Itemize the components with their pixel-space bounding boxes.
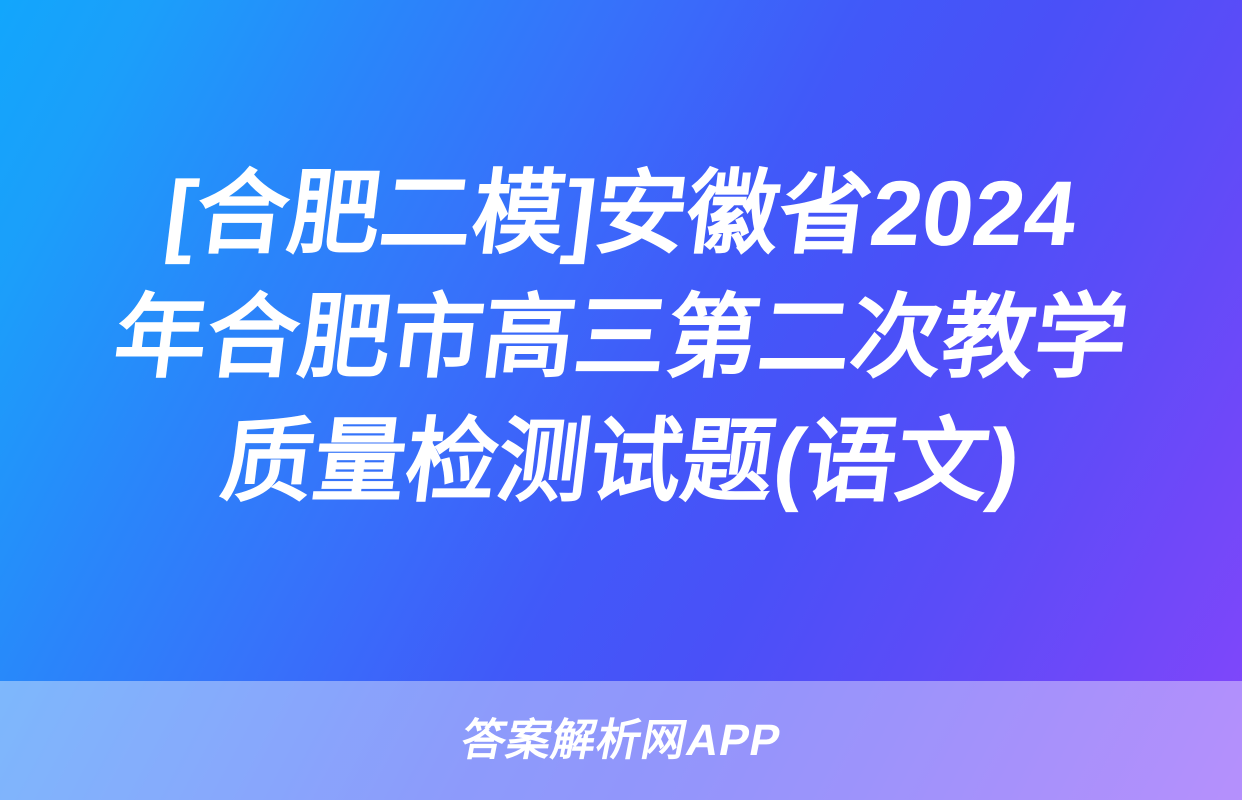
title-line-2: 年合肥市高三第二次教学 (107, 276, 1134, 400)
footer-brand-band: 答案解析网APP (0, 681, 1242, 800)
title-block: [合肥二模]安徽省2024 年合肥市高三第二次教学 质量检测试题(语文) (0, 0, 1242, 681)
title-line-3: 质量检测试题(语文) (215, 400, 1028, 524)
title-line-1: [合肥二模]安徽省2024 (158, 152, 1083, 276)
exam-cover-card: [合肥二模]安徽省2024 年合肥市高三第二次教学 质量检测试题(语文) 答案解… (0, 0, 1242, 800)
app-brand-watermark: 答案解析网APP (457, 715, 786, 767)
